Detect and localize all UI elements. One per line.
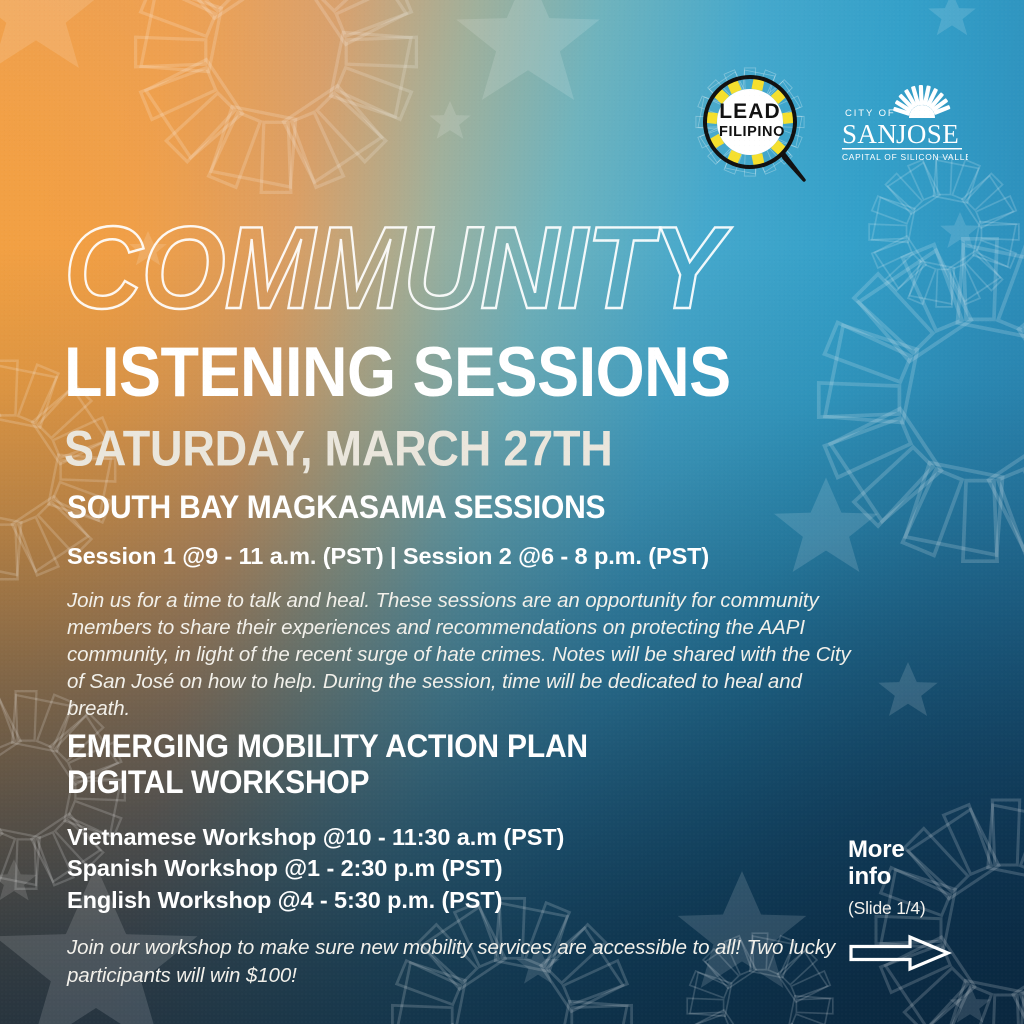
poster-canvas: LEAD FILIPINO — [0, 0, 1024, 1024]
background-texture-overlay — [0, 0, 1024, 1024]
